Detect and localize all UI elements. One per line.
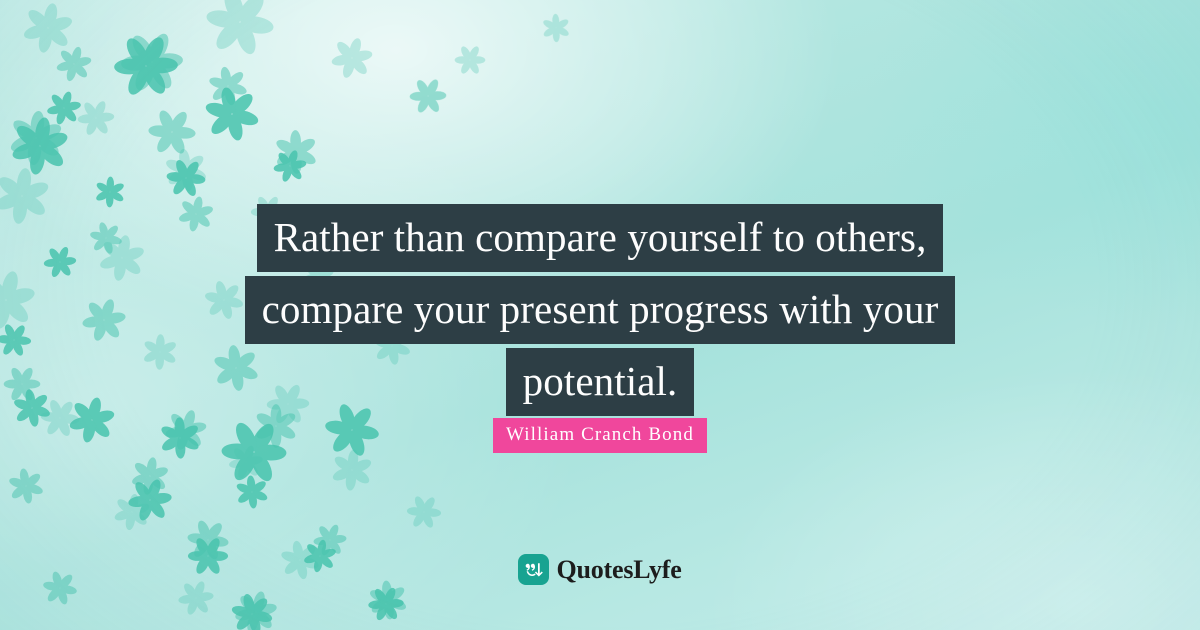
author-name: William Cranch Bond [493, 418, 707, 453]
quote-card: Rather than compare yourself to others, … [0, 0, 1200, 630]
quote-line-1: Rather than compare yourself to others, [257, 204, 944, 272]
author-container: William Cranch Bond [0, 418, 1200, 453]
quote-line-2: compare your present progress with your [245, 276, 956, 344]
quote-text: Rather than compare yourself to others, … [0, 204, 1200, 416]
brand-logo[interactable]: QuotesLyfe [0, 554, 1200, 585]
quote-line-3: potential. [506, 348, 695, 416]
brand-name: QuotesLyfe [556, 557, 681, 583]
quote-smiley-icon [518, 554, 549, 585]
